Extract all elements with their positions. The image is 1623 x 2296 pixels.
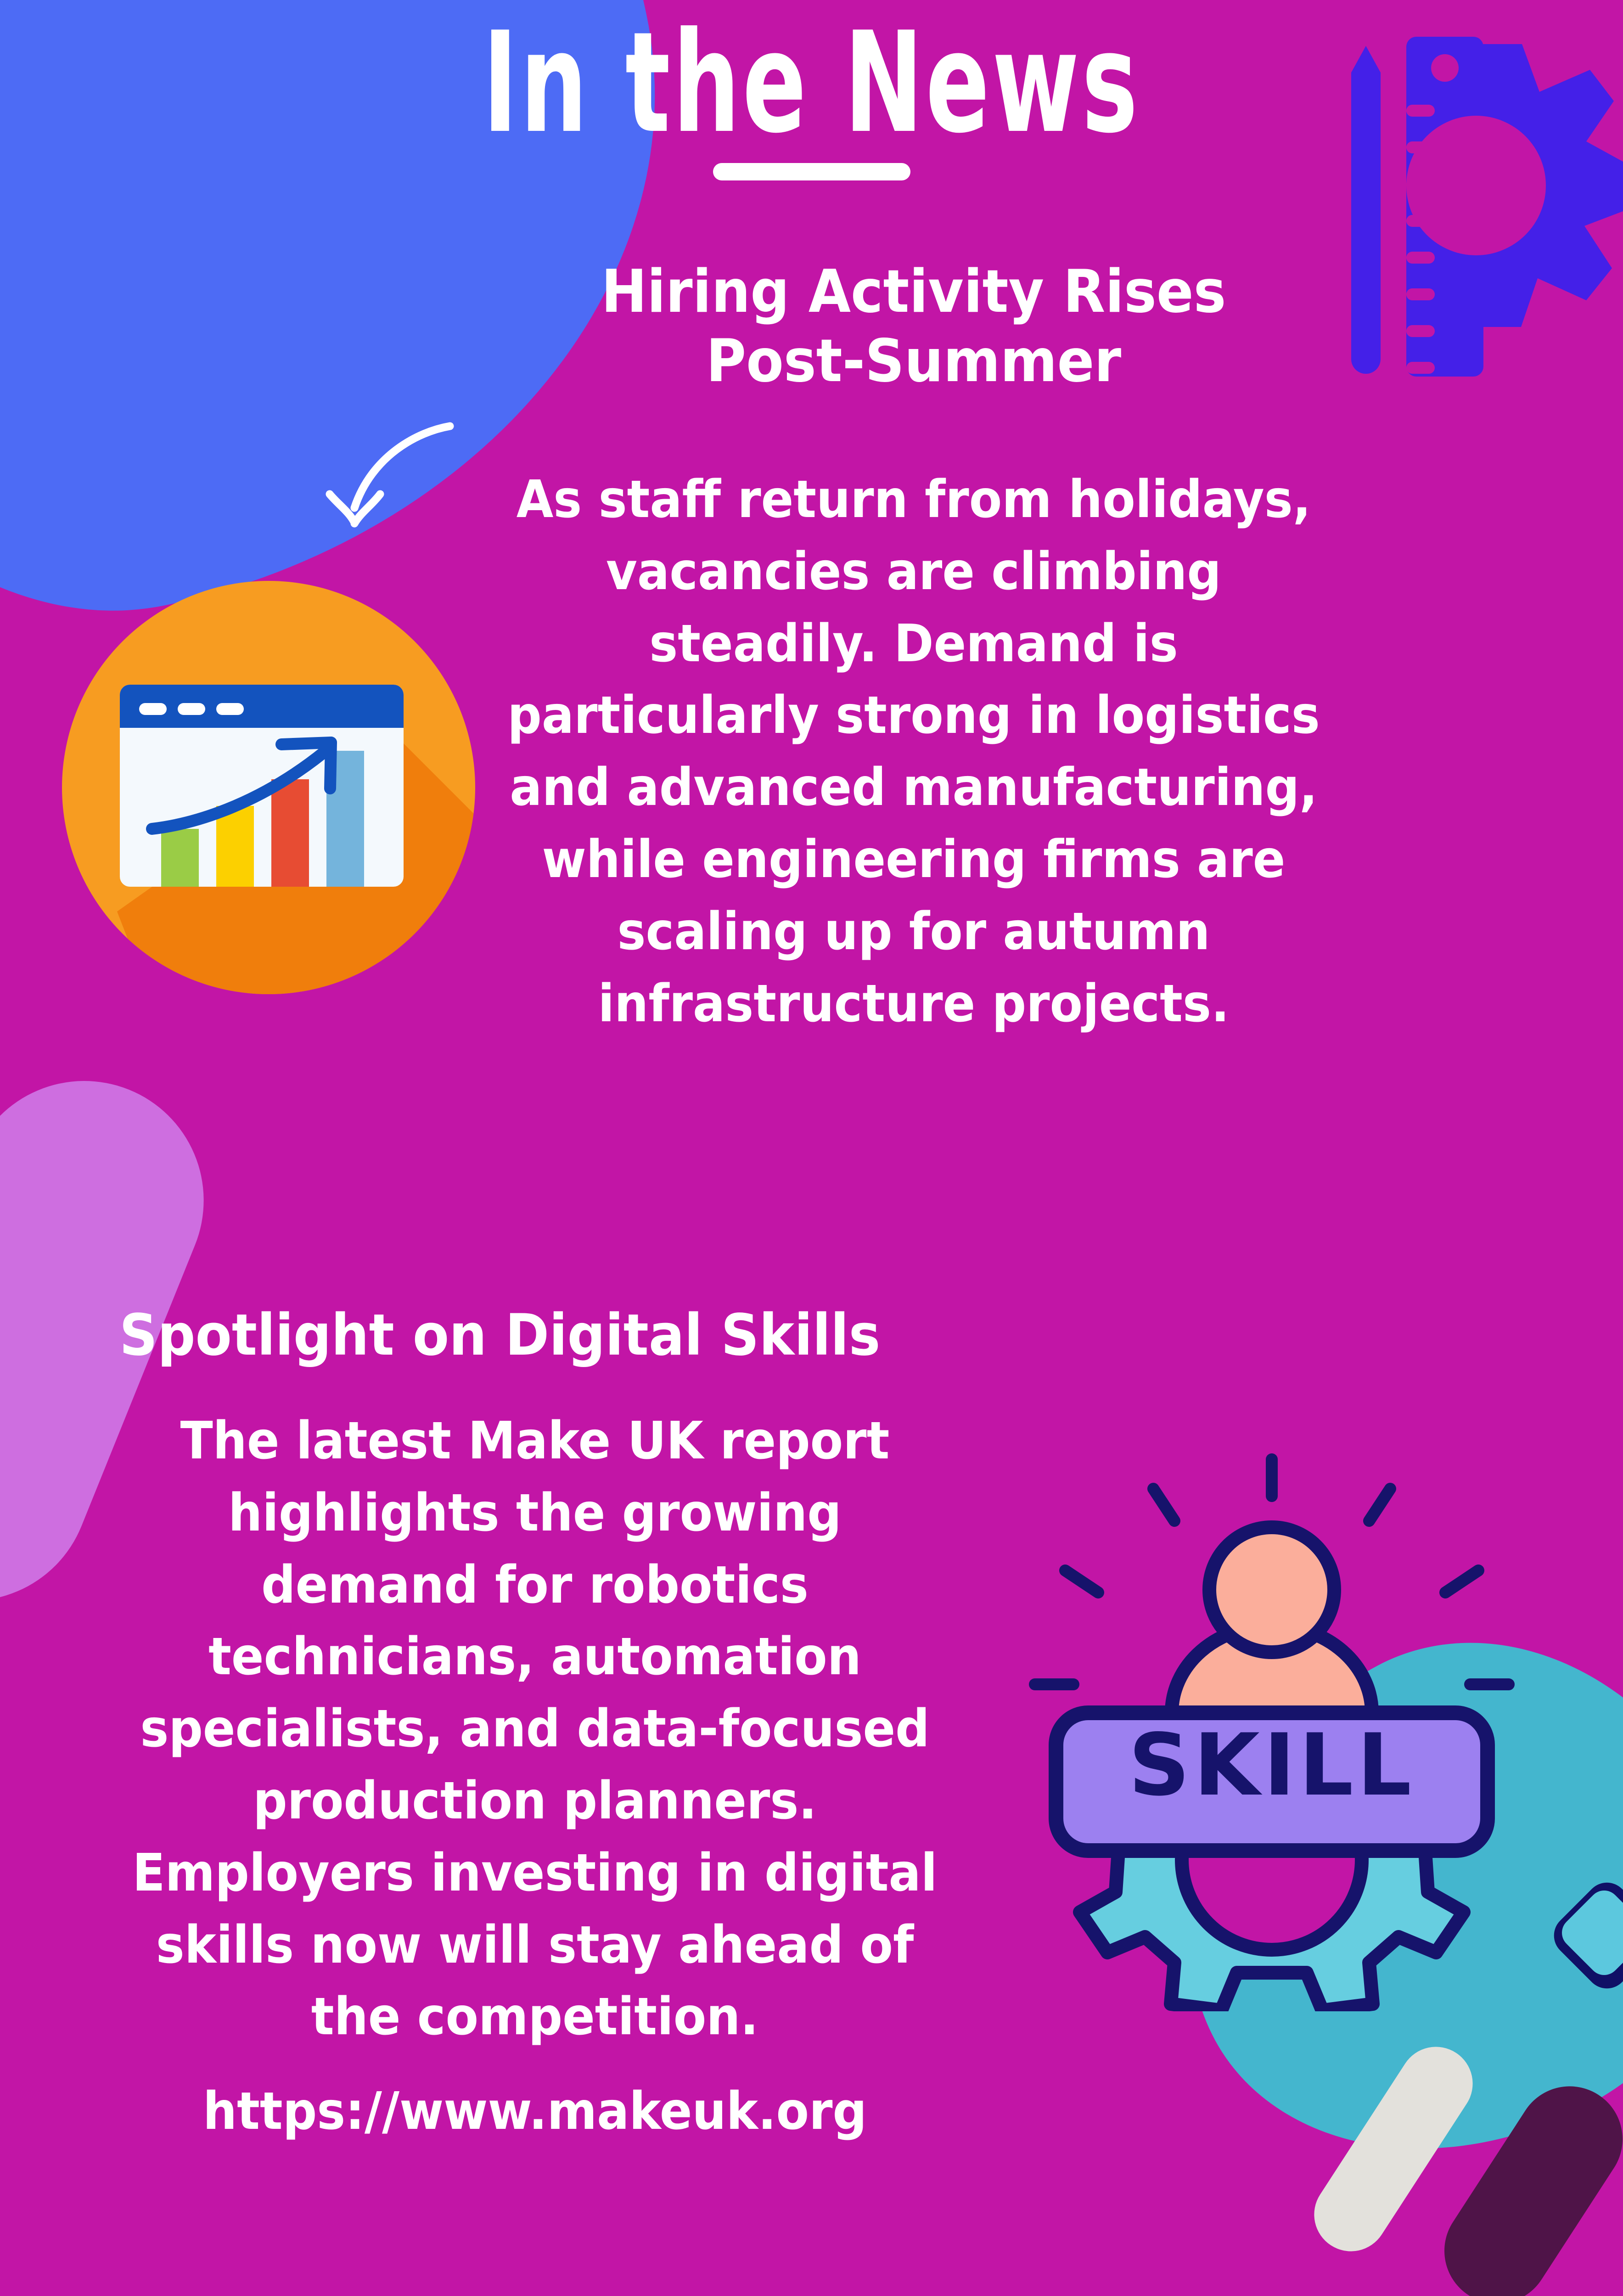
title-underline bbox=[713, 163, 910, 180]
article-2-body: The latest Make UK report highlights the… bbox=[117, 1405, 954, 2053]
pencil-ruler-gear-icon bbox=[1338, 18, 1623, 386]
decor-square-teal-bottomright bbox=[1556, 1884, 1623, 1981]
poster-canvas: In the News bbox=[0, 0, 1623, 2296]
decor-capsule-plum-bottomright bbox=[1424, 2066, 1623, 2296]
article-1-body: As staff return from holidays, vacancies… bbox=[495, 464, 1332, 1040]
chart-bar-2 bbox=[216, 806, 254, 887]
article-2-link[interactable]: https://www.makeuk.org bbox=[117, 2076, 954, 2148]
page-title: In the News bbox=[65, 14, 1558, 153]
skill-person-gear-icon: SKILL bbox=[1001, 1419, 1543, 2011]
article-2-headline: Spotlight on Digital Skills bbox=[119, 1302, 973, 1369]
skill-banner: SKILL bbox=[1056, 1713, 1488, 1851]
chart-bar-1 bbox=[161, 829, 199, 887]
growth-chart-icon bbox=[62, 581, 475, 994]
article-1-headline: Hiring Activity Rises Post-Summer bbox=[512, 257, 1315, 396]
decor-square-navy-bottomright bbox=[1545, 1874, 1623, 1998]
pencil-icon bbox=[1351, 46, 1381, 374]
chart-bar-3 bbox=[271, 779, 309, 887]
skill-banner-label: SKILL bbox=[1129, 1715, 1415, 1815]
decor-capsule-white-bottomright bbox=[1300, 2033, 1487, 2265]
curved-arrow-icon bbox=[303, 413, 459, 560]
